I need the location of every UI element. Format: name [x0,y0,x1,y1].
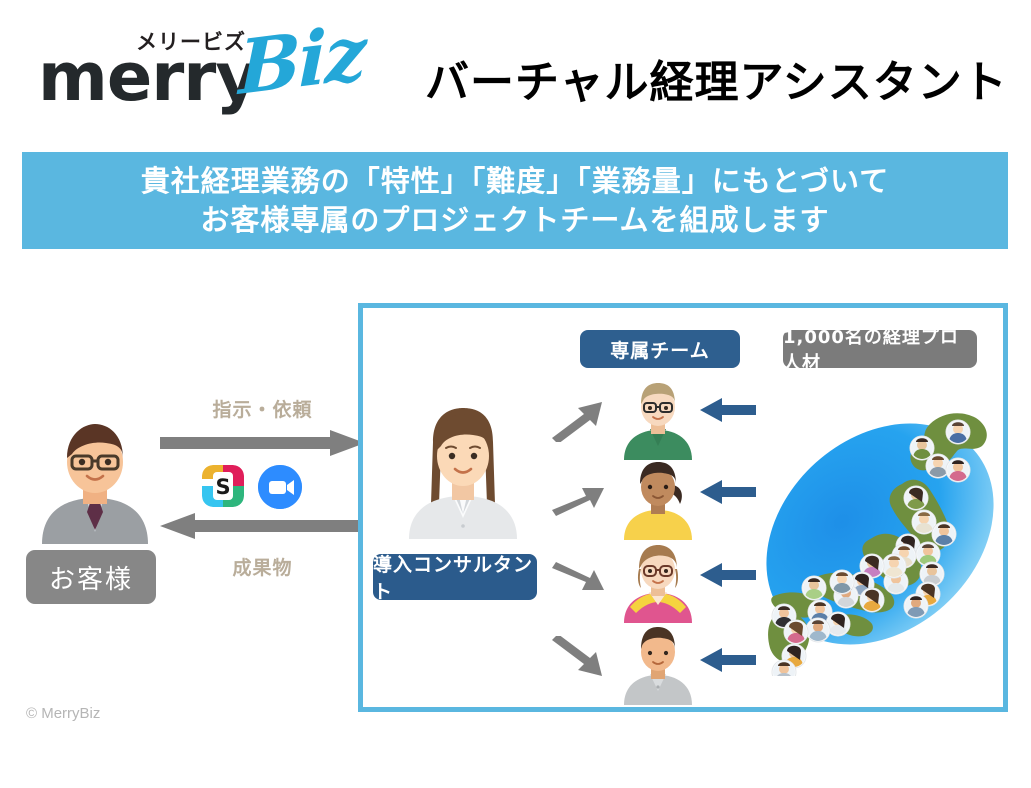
exchange-group: 指示・依頼 S [160,395,365,580]
customer-avatar [34,412,156,544]
banner-line-2: お客様専属のプロジェクトチームを組成します [200,201,829,239]
team-member-4 [620,625,696,705]
customer-badge: お客様 [26,550,156,604]
merrybiz-logo: メリービズ merry Biz [38,26,393,118]
outbound-label: 指示・依頼 [160,395,365,422]
japan-map [752,388,1008,676]
consultant-avatar [403,406,523,539]
pool-arrow-1-icon [700,398,756,422]
inbound-label: 成果物 [160,553,365,580]
pool-arrow-2-icon [700,480,756,504]
slide-root: メリービズ merry Biz バーチャル経理アシスタント 貴社経理業務の「特性… [0,0,1031,788]
inbound-arrow-icon [160,513,365,539]
headline-banner: 貴社経理業務の「特性」「難度」「業務量」にもとづいて お客様専属のプロジェクトチ… [22,152,1008,249]
team-member-3 [620,543,696,623]
customer-badge-label: お客様 [49,559,133,596]
copyright-text: © MerryBiz [26,705,100,722]
outbound-arrow-icon [160,430,365,456]
consultant-badge: 導入コンサルタント [373,554,537,600]
svg-text:S: S [215,475,230,499]
assign-arrow-2-icon [550,478,606,520]
assign-arrow-1-icon [550,400,606,442]
team-badge: 専属チーム [580,330,740,368]
logo-wordmark: merry [38,44,258,111]
pool-arrow-3-icon [700,563,756,587]
header: メリービズ merry Biz バーチャル経理アシスタント [0,0,1031,140]
logo-script-biz: Biz [238,16,365,106]
slack-icon[interactable]: S [202,465,244,507]
pool-arrow-4-icon [700,648,756,672]
banner-line-1: 貴社経理業務の「特性」「難度」「業務量」にもとづいて [141,162,889,200]
talent-pool-badge: 1,000名の経理プロ人材 [783,330,977,368]
assign-arrow-4-icon [550,636,606,678]
team-member-1 [620,380,696,460]
zoom-icon[interactable] [258,465,302,509]
talent-pool-badge-label: 1,000名の経理プロ人材 [783,323,977,375]
assign-arrow-3-icon [550,558,606,600]
team-badge-label: 専属チーム [610,336,709,363]
page-title: バーチャル経理アシスタント [425,46,1008,110]
team-member-2 [620,460,696,540]
tool-icon-group: S [202,465,322,509]
consultant-badge-label: 導入コンサルタント [373,550,537,604]
